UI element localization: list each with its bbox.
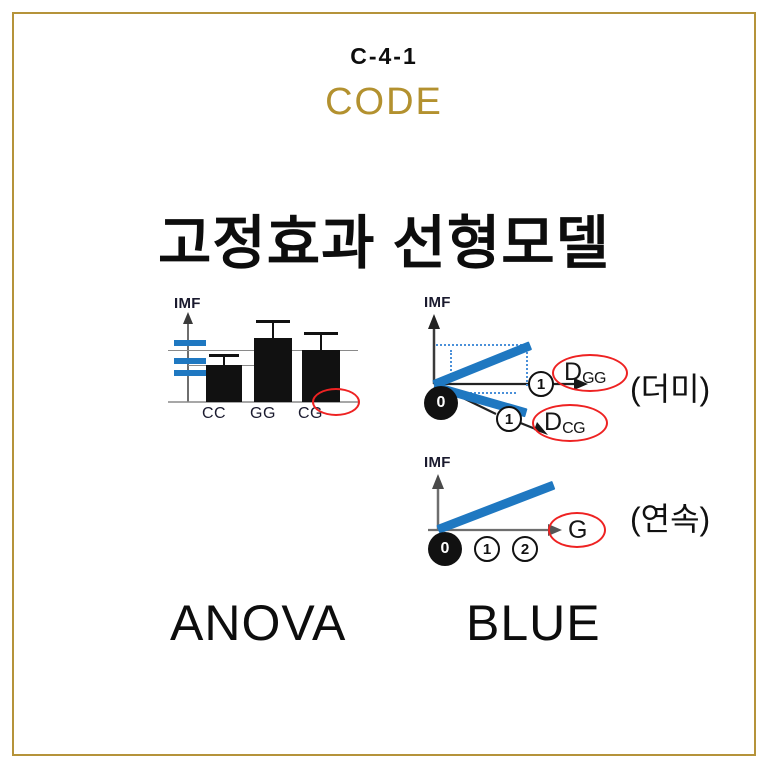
code-word-label: CODE bbox=[0, 83, 768, 123]
blue-code-marker-1: 1 bbox=[474, 536, 500, 562]
page-title: 고정효과 선형모델 bbox=[0, 196, 768, 280]
continuous-coding-diagram: IMF 0 1 2 G bbox=[410, 452, 630, 570]
blue-origin-marker: 0 bbox=[428, 532, 462, 566]
dummy-var-cg-main: D bbox=[544, 408, 562, 436]
blue-caption: BLUE bbox=[466, 594, 601, 652]
dummy-var-cg-sub: CG bbox=[562, 420, 585, 437]
dummy-coding-diagram: IMF 0 1 1 DGG DCG bbox=[410, 292, 630, 452]
anova-error-cap-gg bbox=[256, 320, 290, 323]
anova-level-tick-top bbox=[174, 340, 206, 346]
anova-bar-chart: IMF CC GG CG bbox=[150, 292, 365, 427]
dummy-guide-horizontal bbox=[436, 344, 526, 346]
anova-bar-cc bbox=[206, 365, 242, 402]
slide-canvas: C-4-1 CODE 고정효과 선형모델 IMF CC GG bbox=[0, 0, 768, 768]
dummy-origin-marker: 0 bbox=[424, 386, 458, 420]
dummy-note-label: (더미) bbox=[630, 364, 710, 410]
anova-error-cg bbox=[320, 332, 322, 354]
code-id-label: C-4-1 bbox=[0, 44, 768, 69]
anova-caption: ANOVA bbox=[170, 594, 346, 652]
anova-level-tick-low bbox=[174, 370, 206, 376]
dummy-code-marker-gg: 1 bbox=[528, 371, 554, 397]
dummy-var-cg: DCG bbox=[544, 408, 585, 437]
anova-tick-cc: CC bbox=[202, 405, 226, 423]
anova-highlight-ellipse bbox=[312, 388, 360, 416]
anova-tick-gg: GG bbox=[250, 405, 276, 423]
dummy-var-gg: DGG bbox=[564, 358, 606, 387]
dummy-code-marker-cg: 1 bbox=[496, 406, 522, 432]
blue-code-marker-2: 2 bbox=[512, 536, 538, 562]
anova-error-cap-cg bbox=[304, 332, 338, 335]
anova-level-tick-mid bbox=[174, 358, 206, 364]
anova-error-cap-cc bbox=[209, 354, 239, 357]
slide-header: C-4-1 CODE bbox=[0, 44, 768, 123]
blue-note-label: (연속) bbox=[630, 494, 710, 540]
anova-error-gg bbox=[272, 320, 274, 342]
dummy-var-gg-sub: GG bbox=[582, 370, 606, 387]
blue-var-g: G bbox=[568, 516, 587, 545]
anova-bar-gg bbox=[254, 338, 292, 402]
dummy-var-gg-main: D bbox=[564, 358, 582, 386]
